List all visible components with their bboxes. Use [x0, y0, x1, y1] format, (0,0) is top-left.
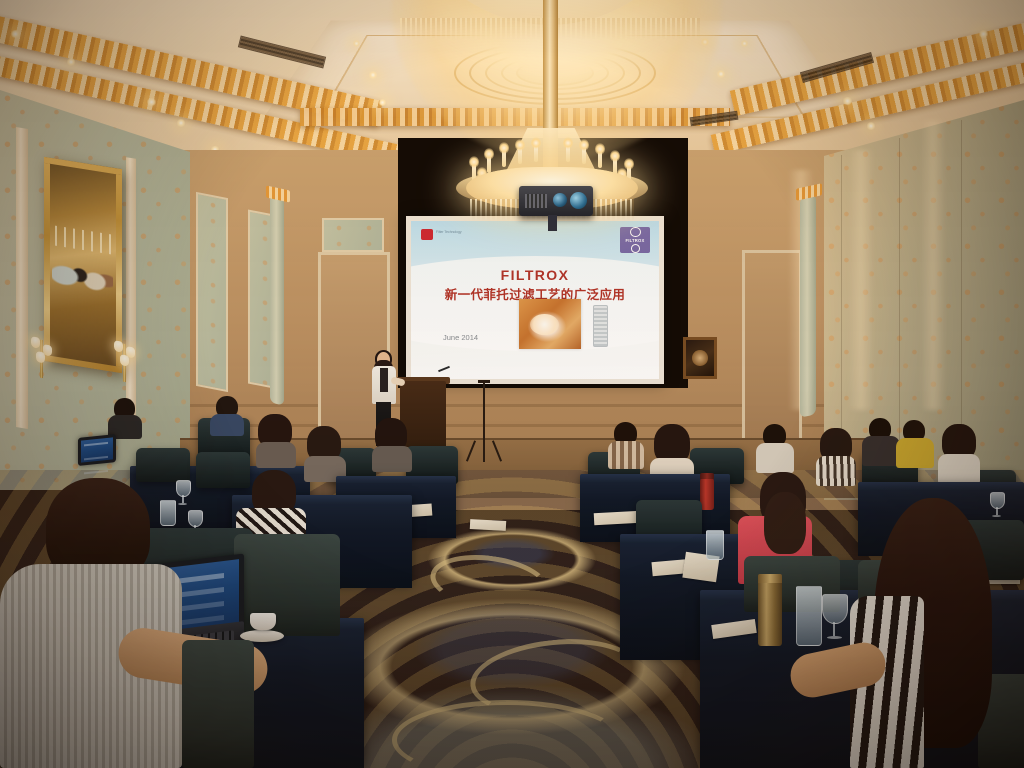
slide-brand-title: FILTROX	[411, 267, 659, 283]
downlight	[978, 30, 989, 38]
downlight	[866, 122, 876, 130]
chandelier-candle	[582, 147, 586, 164]
screen-stand-leg	[483, 440, 485, 462]
chandelier-candle	[518, 147, 522, 164]
wine-glass	[822, 594, 846, 644]
attendee	[108, 398, 142, 436]
slide-filter-cartridge-icon	[593, 305, 608, 347]
attendee	[816, 428, 856, 480]
red-partner-logo-text: Filter Technology	[436, 230, 470, 234]
wall-pilaster-left	[126, 157, 136, 429]
handout-paper	[594, 511, 641, 525]
attendee	[938, 424, 980, 476]
slide-date: June 2014	[443, 333, 478, 342]
projector-lens-secondary	[553, 193, 567, 207]
attendee-torso	[862, 436, 900, 466]
handout-paper	[470, 519, 506, 531]
filtrox-logo-text: FILTROX	[625, 238, 644, 243]
downlight	[10, 30, 21, 38]
wall-light-sheen	[848, 150, 874, 410]
attendee-torso	[816, 456, 856, 486]
attendee-torso	[210, 414, 244, 436]
laptop-background-screen	[81, 437, 113, 462]
coffee-cup	[250, 613, 276, 630]
attendee-hair-overlay	[764, 492, 806, 554]
wall-panel-inset	[322, 218, 384, 252]
projector-mount	[548, 215, 557, 231]
chandelier-candle	[502, 150, 506, 167]
foreground-attendee-right	[846, 498, 1022, 768]
wall-sconce-right	[114, 332, 136, 383]
water-glass	[796, 586, 822, 646]
attendee	[650, 424, 694, 480]
attendee	[896, 420, 934, 468]
red-thermos-flask	[700, 478, 714, 510]
attendee-table-top	[858, 482, 1024, 490]
filtrox-logo-ring-bottom	[631, 244, 640, 253]
decorative-column	[270, 195, 284, 406]
downlight	[842, 97, 853, 105]
ceiling-projector	[519, 186, 593, 216]
chair	[136, 448, 190, 482]
downlight	[146, 98, 157, 106]
downlight	[66, 58, 76, 66]
chandelier-candle	[487, 156, 491, 173]
attendee	[756, 424, 794, 472]
attendee	[608, 422, 644, 466]
attendee	[256, 414, 296, 462]
wall-light-sheen	[920, 120, 946, 410]
attendee-torso	[938, 454, 980, 484]
decorative-column-right	[800, 194, 816, 417]
presenter-inner-top	[380, 368, 388, 392]
filtrox-logo-ring-top	[630, 227, 641, 237]
attendee-torso	[608, 441, 644, 469]
wall-painting-right	[683, 337, 717, 379]
wall-pilaster-left	[16, 127, 28, 429]
chandelier-candle	[534, 145, 538, 162]
chandelier-candle	[598, 151, 602, 168]
painting-figures-detail	[52, 241, 113, 304]
downlight	[716, 70, 726, 78]
presentation-slide: Filter Technology FILTROX FILTROX 新一代菲托过…	[411, 221, 659, 379]
projector-vent	[525, 194, 547, 208]
attendee	[210, 396, 244, 432]
wall-panel-seam	[841, 155, 842, 470]
attendee-torso	[256, 442, 296, 468]
downlight	[352, 40, 361, 47]
red-thermos-cap	[700, 473, 714, 479]
downlight	[378, 99, 387, 106]
water-glass	[706, 530, 724, 560]
laptop-background	[78, 434, 116, 466]
attendee	[304, 426, 346, 476]
filtrox-logo: FILTROX	[620, 227, 650, 253]
downlight	[176, 119, 186, 127]
gold-thermos-cap	[758, 574, 782, 583]
wall-panel-seam	[961, 120, 962, 470]
gold-thermos-flask	[758, 580, 782, 646]
attendee	[862, 418, 900, 466]
chair	[182, 640, 254, 768]
chandelier-candle	[566, 145, 570, 162]
attendee-table-top	[336, 476, 456, 483]
attendee-torso	[372, 446, 412, 472]
downlight	[740, 40, 749, 47]
red-partner-logo	[421, 229, 433, 240]
projector-lens	[570, 192, 587, 209]
wall-sconce-left	[31, 328, 53, 379]
attendee-torso	[896, 438, 934, 468]
conference-room-photo: Filter Technology FILTROX FILTROX 新一代菲托过…	[0, 0, 1024, 768]
attendee-torso	[756, 443, 794, 473]
attendee	[372, 418, 412, 466]
wall-panel-inset	[196, 192, 228, 392]
wall-painting-left	[44, 157, 122, 373]
downlight	[368, 71, 378, 79]
slide-product-photo	[519, 299, 581, 349]
